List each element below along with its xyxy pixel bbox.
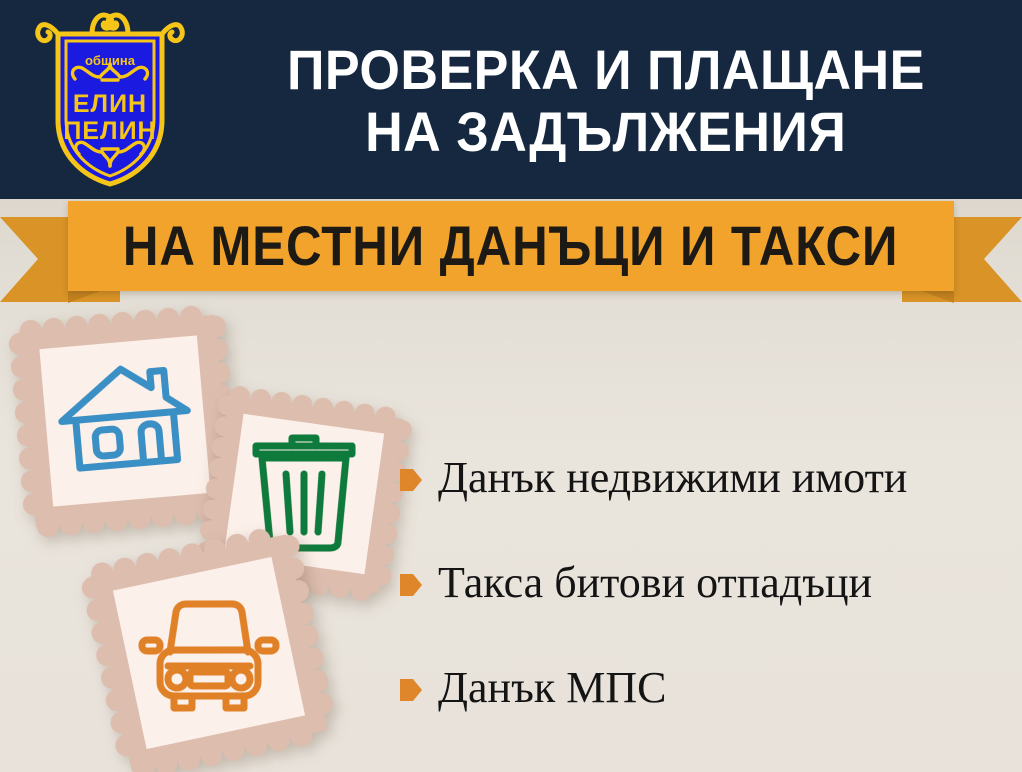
bullet-arrow-icon bbox=[400, 677, 422, 703]
title-line-1: ПРОВЕРКА И ПЛАЩАНЕ bbox=[287, 39, 925, 101]
list-item[interactable]: Данък недвижими имоти bbox=[400, 425, 1010, 530]
page-title: ПРОВЕРКА И ПЛАЩАНЕ НА ЗАДЪЛЖЕНИЯ bbox=[190, 16, 1022, 186]
list-item-label: Данък МПС bbox=[438, 664, 666, 712]
subtitle-ribbon: НА МЕСТНИ ДАНЪЦИ И ТАКСИ bbox=[0, 197, 1022, 307]
crest-name-line-1: ЕЛИН bbox=[73, 90, 147, 118]
coat-of-arms-icon: община ЕЛИН ПЕЛИН bbox=[30, 8, 190, 190]
crest-name-line-2: ПЕЛИН bbox=[63, 117, 156, 145]
list-item[interactable]: Данък МПС bbox=[400, 635, 1010, 740]
list-item-label: Такса битови отпадъци bbox=[438, 559, 872, 607]
header-banner: община ЕЛИН ПЕЛИН bbox=[0, 0, 1022, 199]
poster-canvas: община ЕЛИН ПЕЛИН bbox=[0, 0, 1022, 772]
ribbon-main-band: НА МЕСТНИ ДАНЪЦИ И ТАКСИ bbox=[68, 201, 954, 291]
list-item[interactable]: Такса битови отпадъци bbox=[400, 530, 1010, 635]
services-list: Данък недвижими имоти Такса битови отпад… bbox=[400, 425, 1010, 740]
bullet-arrow-icon bbox=[400, 572, 422, 598]
list-item-label: Данък недвижими имоти bbox=[438, 454, 907, 502]
bullet-arrow-icon bbox=[400, 467, 422, 493]
ribbon-label: НА МЕСТНИ ДАНЪЦИ И ТАКСИ bbox=[123, 217, 898, 275]
title-line-2: НА ЗАДЪЛЖЕНИЯ bbox=[365, 101, 846, 163]
stamp-card-car bbox=[77, 521, 340, 772]
